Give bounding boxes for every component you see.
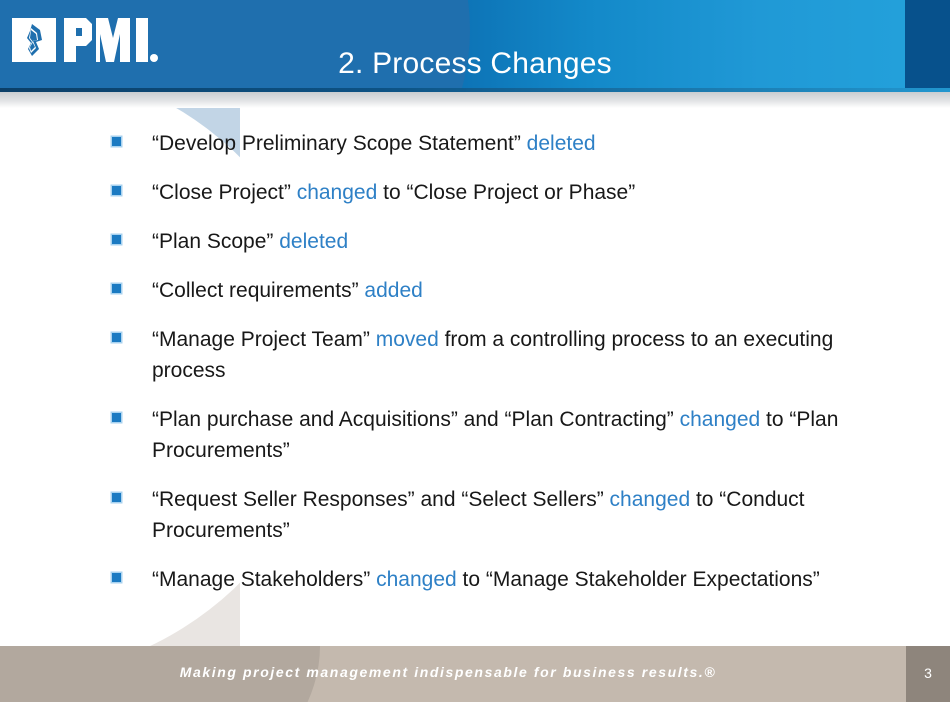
bullet-segment: “Manage Project Team” <box>152 328 376 351</box>
bullet-text: “Close Project” changed to “Close Projec… <box>152 177 912 208</box>
bullet-text: “Manage Stakeholders” changed to “Manage… <box>152 564 912 595</box>
bullet-segment: to “Manage Stakeholder Expectations” <box>457 568 820 591</box>
bullet-segment: “Develop Preliminary Scope Statement” <box>152 132 527 155</box>
bullet-segment: “Plan Scope” <box>152 230 279 253</box>
bullet-square-icon <box>112 284 121 293</box>
header-drop-shadow <box>0 92 950 108</box>
bullet-keyword: added <box>364 279 422 302</box>
list-item: “Manage Stakeholders” changed to “Manage… <box>112 564 912 595</box>
bullet-square-icon <box>112 493 121 502</box>
list-item: “Close Project” changed to “Close Projec… <box>112 177 912 208</box>
bullet-text: “Collect requirements” added <box>152 275 912 306</box>
bullet-text: “Plan purchase and Acquisitions” and “Pl… <box>152 404 912 466</box>
bullet-segment: “Request Seller Responses” and “Select S… <box>152 488 610 511</box>
bullet-square-icon <box>112 413 121 422</box>
footer-tagline: Making project management indispensable … <box>0 664 896 680</box>
presentation-slide: 2. Process Changes “Develop Preliminary … <box>0 0 950 702</box>
bullet-segment: “Collect requirements” <box>152 279 364 302</box>
bullet-segment: to “Close Project or Phase” <box>377 181 635 204</box>
list-item: “Manage Project Team” moved from a contr… <box>112 324 912 386</box>
bullet-keyword: deleted <box>279 230 348 253</box>
bullet-segment: “Close Project” <box>152 181 297 204</box>
list-item: “Develop Preliminary Scope Statement” de… <box>112 128 912 159</box>
list-item: “Plan Scope” deleted <box>112 226 912 257</box>
list-item: “Plan purchase and Acquisitions” and “Pl… <box>112 404 912 466</box>
slide-footer: Making project management indispensable … <box>0 646 950 702</box>
bullet-keyword: changed <box>376 568 457 591</box>
bullet-segment: “Manage Stakeholders” <box>152 568 376 591</box>
bullet-text: “Plan Scope” deleted <box>152 226 912 257</box>
bullet-keyword: changed <box>610 488 691 511</box>
pmi-logo-icon <box>12 16 160 68</box>
bullet-square-icon <box>112 573 121 582</box>
bullet-text: “Manage Project Team” moved from a contr… <box>152 324 912 386</box>
bullet-keyword: moved <box>376 328 439 351</box>
list-item: “Request Seller Responses” and “Select S… <box>112 484 912 546</box>
bullet-keyword: deleted <box>527 132 596 155</box>
bullet-segment: “Plan purchase and Acquisitions” and “Pl… <box>152 408 680 431</box>
slide-number: 3 <box>906 665 950 681</box>
bullet-square-icon <box>112 186 121 195</box>
bullet-text: “Develop Preliminary Scope Statement” de… <box>152 128 912 159</box>
bullet-square-icon <box>112 137 121 146</box>
pmi-logo <box>12 16 160 68</box>
list-item: “Collect requirements” added <box>112 275 912 306</box>
bullet-keyword: changed <box>297 181 378 204</box>
bullet-square-icon <box>112 333 121 342</box>
bullet-list: “Develop Preliminary Scope Statement” de… <box>112 128 912 613</box>
bullet-square-icon <box>112 235 121 244</box>
bullet-text: “Request Seller Responses” and “Select S… <box>152 484 912 546</box>
bullet-keyword: changed <box>680 408 761 431</box>
slide-number-box: 3 <box>906 646 950 702</box>
